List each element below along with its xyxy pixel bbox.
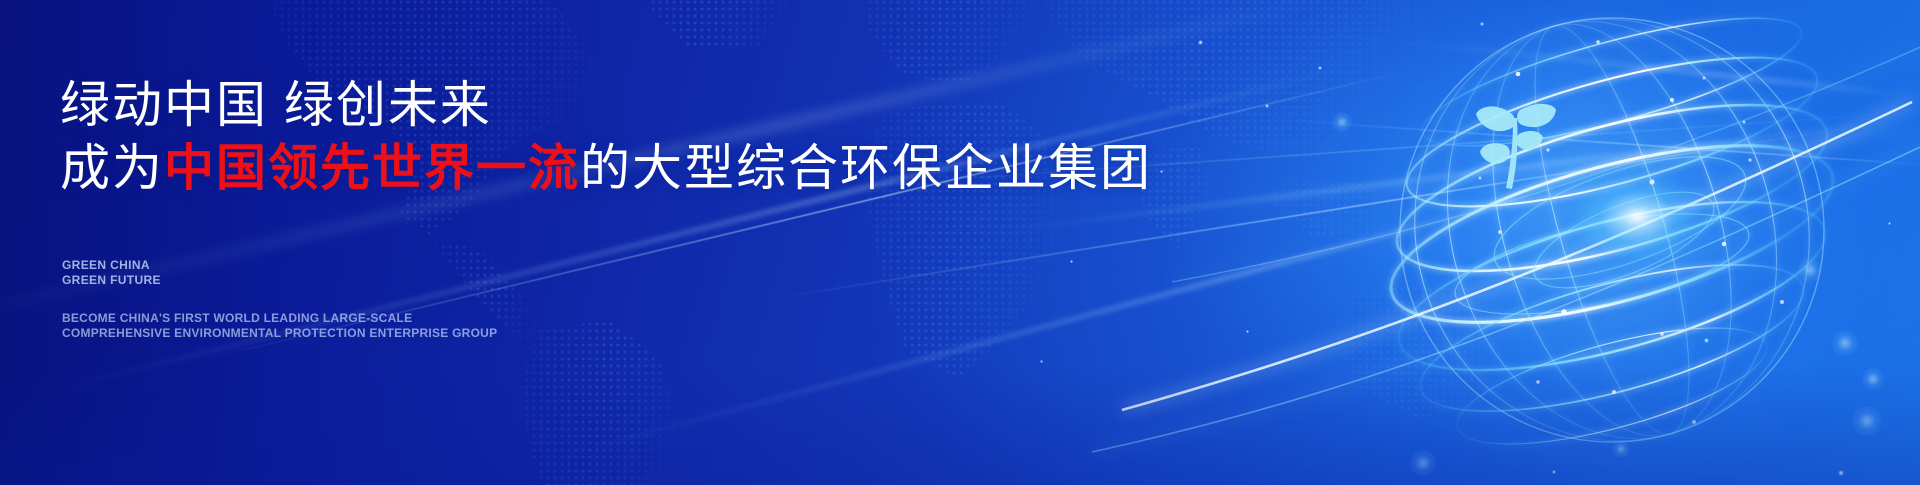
sprout-leaf-icon xyxy=(1472,94,1558,190)
tagline-english-line-1: BECOME CHINA'S FIRST WORLD LEADING LARGE… xyxy=(62,311,497,326)
subtitle-english-line-1: GREEN CHINA xyxy=(62,258,161,273)
globe-outer-glow xyxy=(1282,0,1920,485)
tagline-english: BECOME CHINA'S FIRST WORLD LEADING LARGE… xyxy=(62,311,497,340)
tagline-english-line-2: COMPREHENSIVE ENVIRONMENTAL PROTECTION E… xyxy=(62,326,497,341)
headline-line-2: 成为中国领先世界一流的大型综合环保企业集团 xyxy=(60,137,1152,200)
headline-accent-text: 中国领先世界一流 xyxy=(164,140,580,196)
banner-text-content: 绿动中国 绿创未来 成为中国领先世界一流的大型综合环保企业集团 GREEN CH… xyxy=(60,0,1160,485)
wireframe-globe-graphic xyxy=(1352,0,1872,485)
hero-banner: 绿动中国 绿创未来 成为中国领先世界一流的大型综合环保企业集团 GREEN CH… xyxy=(0,0,1920,485)
subtitle-english: GREEN CHINA GREEN FUTURE xyxy=(62,258,161,288)
headline-line-1: 绿动中国 绿创未来 xyxy=(60,74,1152,137)
subtitle-english-line-2: GREEN FUTURE xyxy=(62,273,161,288)
headline-line-2-prefix: 成为 xyxy=(60,140,164,196)
headline-line-2-suffix: 的大型综合环保企业集团 xyxy=(580,140,1152,196)
globe-core-glow xyxy=(1570,160,1720,270)
headline: 绿动中国 绿创未来 成为中国领先世界一流的大型综合环保企业集团 xyxy=(60,74,1152,200)
